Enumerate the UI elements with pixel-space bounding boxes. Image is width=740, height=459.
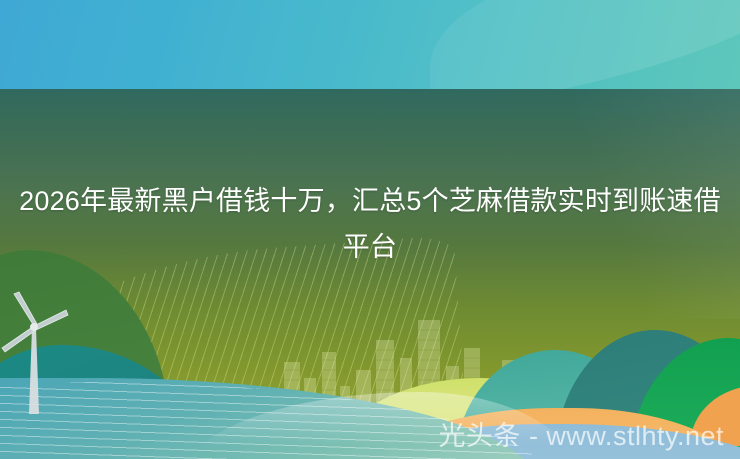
site-watermark: 光头条 - www.stlhty.net [438,414,724,453]
article-cover-banner: 2026年最新黑户借钱十万，汇总5个芝麻借款实时到账速借平台 光头条 - www… [0,0,740,459]
sky-background [0,0,740,89]
page-title: 2026年最新黑户借钱十万，汇总5个芝麻借款实时到账速借平台 [0,178,740,270]
wind-turbine-icon [0,288,78,416]
